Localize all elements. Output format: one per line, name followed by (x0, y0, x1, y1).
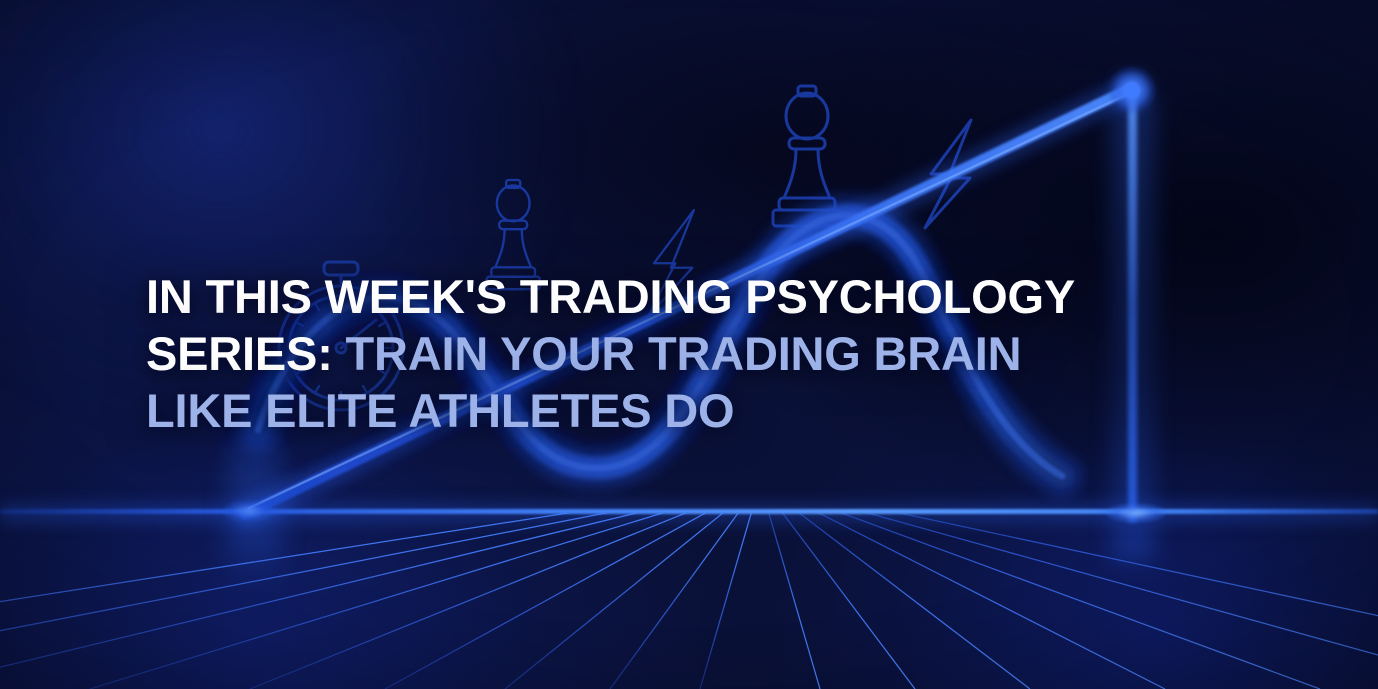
headline-line-2-primary: SERIES: (146, 327, 333, 380)
headline-line-1: IN THIS WEEK'S TRADING PSYCHOLOGY (146, 270, 1074, 323)
page-title: IN THIS WEEK'S TRADING PSYCHOLOGY SERIES… (146, 268, 1086, 439)
banner-root: IN THIS WEEK'S TRADING PSYCHOLOGY SERIES… (0, 0, 1378, 689)
headline-line-3-accent: LIKE ELITE ATHLETES DO (146, 384, 734, 437)
headline-line-2-accent: TRAIN YOUR TRADING BRAIN (346, 327, 1022, 380)
